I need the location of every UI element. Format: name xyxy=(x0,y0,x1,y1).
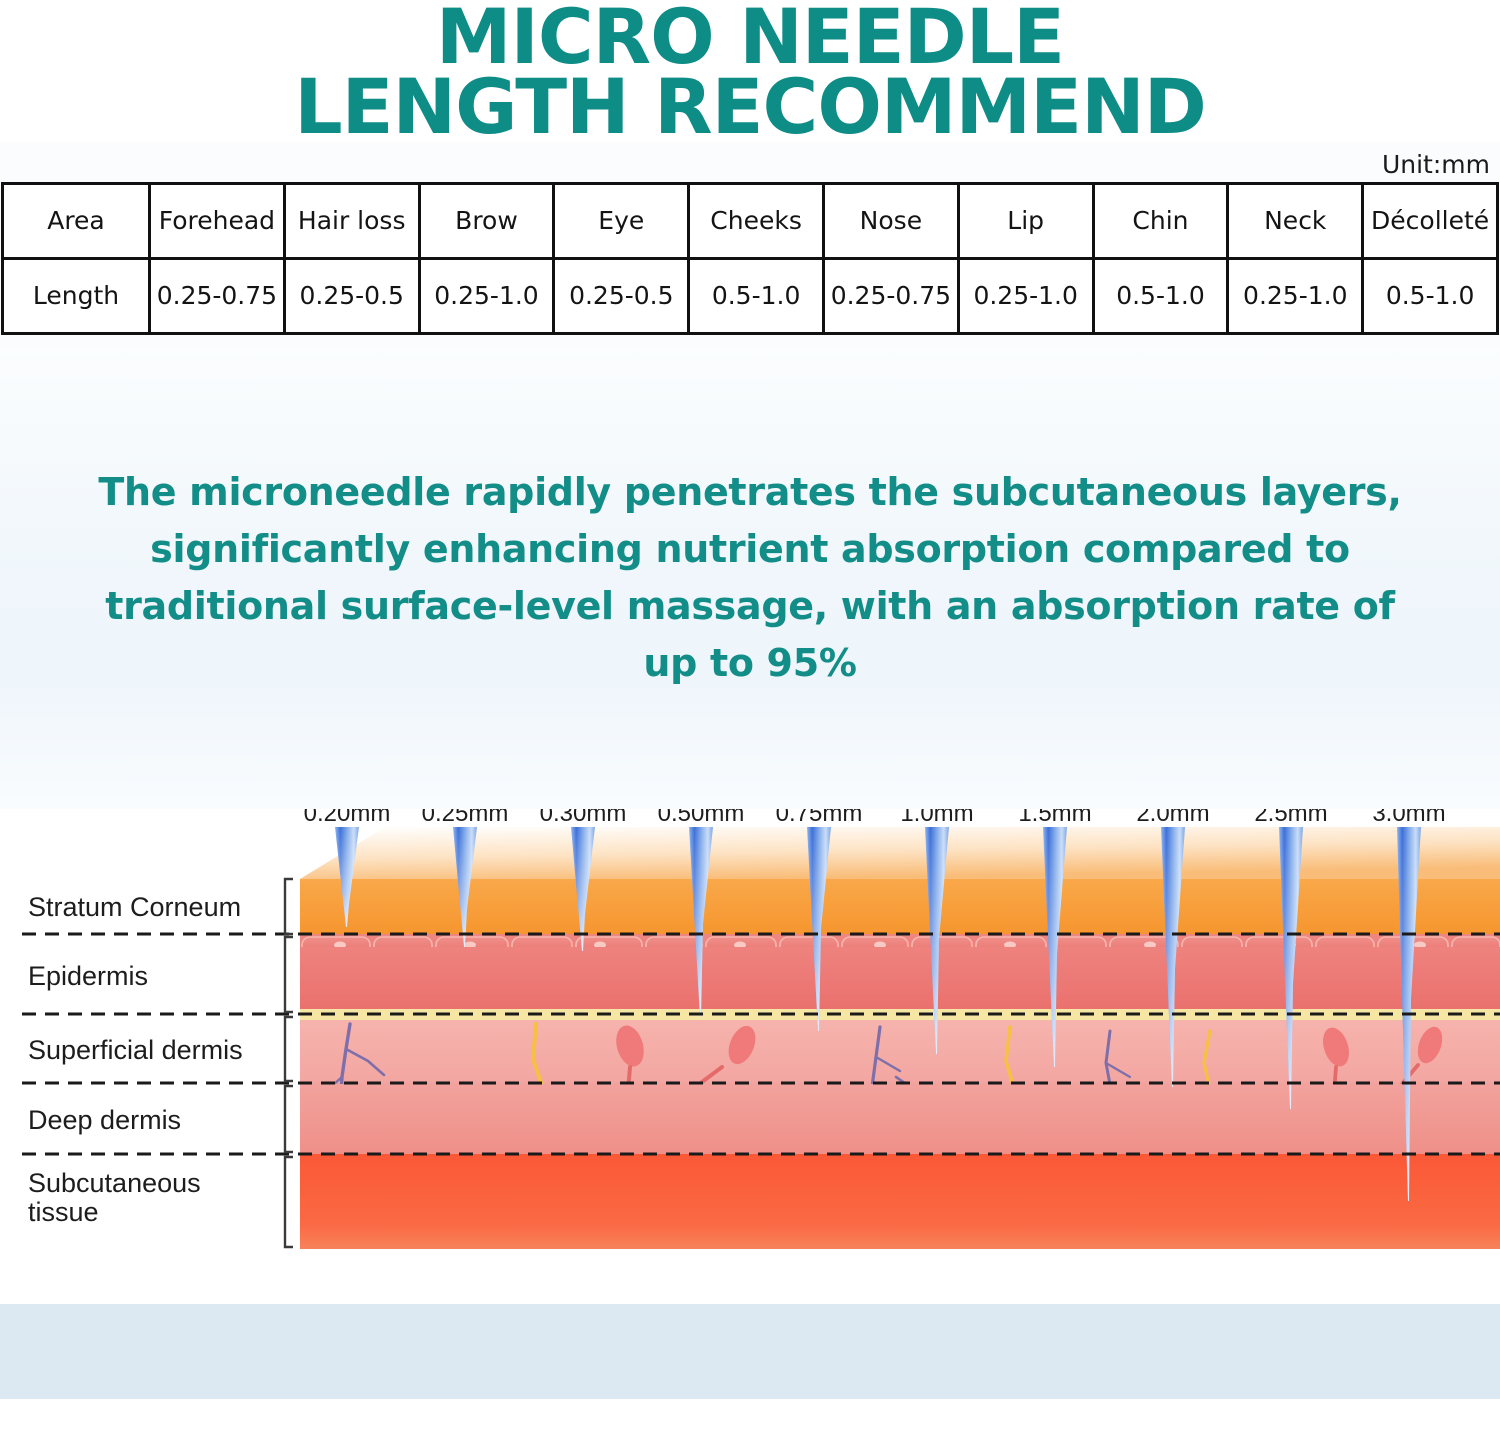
table-cell-length-nose: 0.25-0.75 xyxy=(823,258,958,333)
table-cell-area-decollete: Décolleté xyxy=(1363,183,1498,258)
needle-length-table-section: Unit:mm Area Forehead Hair loss Brow Eye… xyxy=(0,142,1500,347)
skin-layer-label-2: Superficial dermis xyxy=(28,1035,243,1065)
skin-layer-label-3: Deep dermis xyxy=(28,1105,181,1135)
page-title-line-2: LENGTH RECOMMEND xyxy=(0,72,1500,142)
needle-label-0: 0.20mm xyxy=(304,809,391,827)
table-cell-area-chin: Chin xyxy=(1093,183,1228,258)
bottom-strip xyxy=(0,1304,1500,1399)
table-cell-length-neck: 0.25-1.0 xyxy=(1228,258,1363,333)
table-row-area: Area Forehead Hair loss Brow Eye Cheeks … xyxy=(3,183,1498,258)
table-rowheader-area: Area xyxy=(3,183,150,258)
table-cell-length-brow: 0.25-1.0 xyxy=(419,258,554,333)
table-cell-length-eye: 0.25-0.5 xyxy=(554,258,689,333)
table-cell-area-eye: Eye xyxy=(554,183,689,258)
needle-length-table: Area Forehead Hair loss Brow Eye Cheeks … xyxy=(1,182,1499,335)
layer-superficial-dermis xyxy=(300,1020,1500,1083)
table-row-length: Length 0.25-0.75 0.25-0.5 0.25-1.0 0.25-… xyxy=(3,258,1498,333)
table-cell-area-forehead: Forehead xyxy=(150,183,285,258)
description-section: The microneedle rapidly penetrates the s… xyxy=(0,347,1500,809)
needle-label-9: 3.0mm xyxy=(1372,809,1445,827)
needle-label-6: 1.5mm xyxy=(1018,809,1091,827)
title-section: MICRO NEEDLE LENGTH RECOMMEND xyxy=(0,0,1500,142)
table-cell-area-neck: Neck xyxy=(1228,183,1363,258)
needle-label-5: 1.0mm xyxy=(900,809,973,827)
table-cell-length-decollete: 0.5-1.0 xyxy=(1363,258,1498,333)
table-cell-length-cheeks: 0.5-1.0 xyxy=(689,258,824,333)
skin-layer-label-0: Stratum Corneum xyxy=(28,892,241,922)
skin-layer-label-4a: Subcutaneous xyxy=(28,1168,201,1198)
needle-label-1: 0.25mm xyxy=(422,809,509,827)
table-cell-area-nose: Nose xyxy=(823,183,958,258)
table-cell-length-forehead: 0.25-0.75 xyxy=(150,258,285,333)
unit-label: Unit:mm xyxy=(1382,150,1490,179)
skin-layer-label-4b: tissue xyxy=(28,1197,99,1227)
table-cell-area-cheeks: Cheeks xyxy=(689,183,824,258)
layer-stratum-corneum xyxy=(300,879,1500,934)
table-cell-area-lip: Lip xyxy=(958,183,1093,258)
needle-label-2: 0.30mm xyxy=(540,809,627,827)
table-cell-length-chin: 0.5-1.0 xyxy=(1093,258,1228,333)
needle-label-4: 0.75mm xyxy=(776,809,863,827)
table-cell-length-hair-loss: 0.25-0.5 xyxy=(284,258,419,333)
needle-label-8: 2.5mm xyxy=(1254,809,1327,827)
table-cell-length-lip: 0.25-1.0 xyxy=(958,258,1093,333)
skin-penetration-diagram: 0.20mm 0.25mm 0.30mm 0.50mm 0.75mm 1.0mm… xyxy=(0,809,1500,1304)
layer-subcutaneous-tissue xyxy=(300,1154,1500,1249)
skin-surface-plane xyxy=(300,827,1500,879)
needle-label-3: 0.50mm xyxy=(658,809,745,827)
description-paragraph: The microneedle rapidly penetrates the s… xyxy=(80,464,1420,692)
table-cell-area-brow: Brow xyxy=(419,183,554,258)
skin-cross-section xyxy=(296,827,1500,1249)
skin-layer-label-1: Epidermis xyxy=(28,961,148,991)
needle-label-7: 2.0mm xyxy=(1136,809,1209,827)
table-cell-area-hair-loss: Hair loss xyxy=(284,183,419,258)
table-rowheader-length: Length xyxy=(3,258,150,333)
layer-deep-dermis xyxy=(300,1083,1500,1154)
